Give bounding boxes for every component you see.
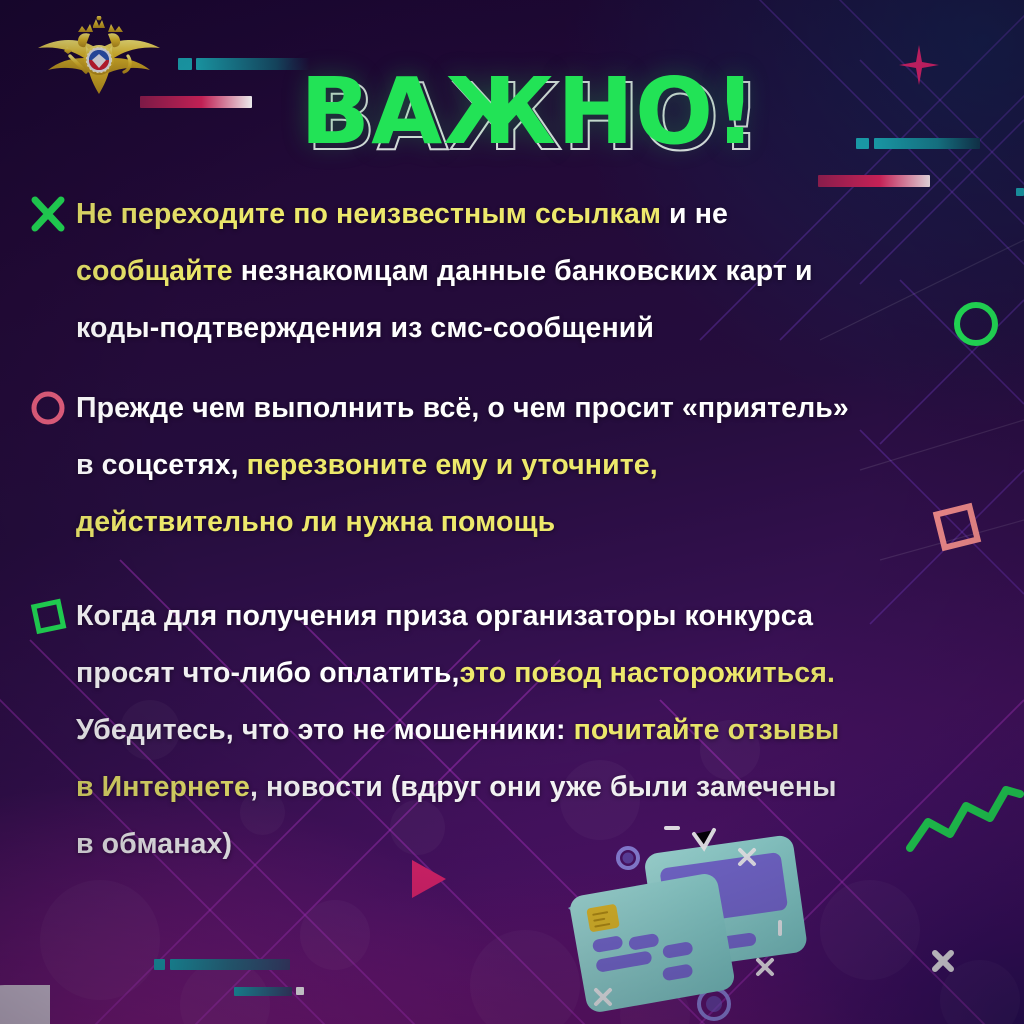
tip-2-l3-a: действительно ли нужна помощь [76, 506, 555, 538]
tip-3-l5-a: в обманах) [76, 828, 232, 860]
tip-3-l3-b: почитайте отзывы [574, 714, 840, 746]
teal-gradient-bar-bottom [170, 959, 290, 970]
tip-3-l4-b: , новости (вдруг они уже были замечены [250, 771, 837, 803]
tip-3-l2-b: это повод насторожиться. [460, 657, 835, 689]
teal-gradient-bar-top-left [196, 58, 310, 70]
tip-item-2: Прежде чем выполнить всё, о чем просит «… [26, 380, 976, 551]
green-x-icon [26, 192, 70, 236]
green-square-outline-icon [26, 594, 70, 638]
tip-1-l1-b: и не [661, 198, 728, 230]
tip-3-l4-a: в Интернете [76, 771, 250, 803]
tip-3-l2-a: просят что-либо оплатить, [76, 657, 460, 689]
magenta-triangle-play-icon [404, 856, 450, 902]
tip-2-l1-a: Прежде чем выполнить всё, о чем просит «… [76, 392, 849, 424]
teal-bar-cap-top-right [856, 138, 869, 149]
pink-four-point-star-icon [898, 44, 940, 86]
green-circle-outline-right [950, 298, 1002, 350]
tip-1-l3-a: коды-подтверждения из смс-сообщений [76, 312, 654, 344]
tip-3-l3-a: Убедитесь, что это не мошенники: [76, 714, 574, 746]
corner-wedge-decoration [0, 985, 50, 1024]
tip-item-2-text: Прежде чем выполнить всё, о чем просит «… [76, 380, 849, 551]
green-zigzag-bottom-right [906, 778, 1024, 856]
tip-item-1: Не переходите по неизвестным ссылкам и н… [26, 186, 976, 357]
tip-3-l1-a: Когда для получения приза организаторы к… [76, 600, 813, 632]
pink-circle-outline-icon [26, 386, 70, 430]
page-title: ВАЖНО! [300, 62, 820, 162]
tip-1-l1-a: Не переходите по неизвестным ссылкам [76, 198, 661, 230]
tip-item-1-text: Не переходите по неизвестным ссылкам и н… [76, 186, 813, 357]
pink-square-outline-right [926, 496, 988, 558]
pink-gradient-bar-top-left [140, 96, 252, 108]
small-teal-square-right-edge [1016, 188, 1024, 196]
white-square-cap-bottom [296, 987, 304, 995]
tip-2-l2-a: в соцсетях, [76, 449, 247, 481]
teal-gradient-bar-top-right [874, 138, 980, 149]
teal-bar-cap-top-left [178, 58, 192, 70]
tip-2-l2-b: перезвоните ему и уточните, [247, 449, 658, 481]
credit-cards-illustration [566, 826, 816, 1024]
tip-1-l2-b: незнакомцам данные банковских карт и [233, 255, 813, 287]
teal-gradient-bar-bottom-2 [234, 987, 292, 996]
page-title-wrapper: ВАЖНО! ВАЖНО! [300, 62, 820, 170]
teal-bar-cap-bottom [154, 959, 165, 970]
tip-item-3: Когда для получения приза организаторы к… [26, 588, 986, 873]
tip-1-l2-a: сообщайте [76, 255, 233, 287]
page-title-text: ВАЖНО! [300, 58, 757, 165]
important-fraud-warning-poster: ВАЖНО! ВАЖНО! Не переходите по неизвестн… [0, 0, 1024, 1024]
white-x-bottom-right [928, 946, 958, 976]
